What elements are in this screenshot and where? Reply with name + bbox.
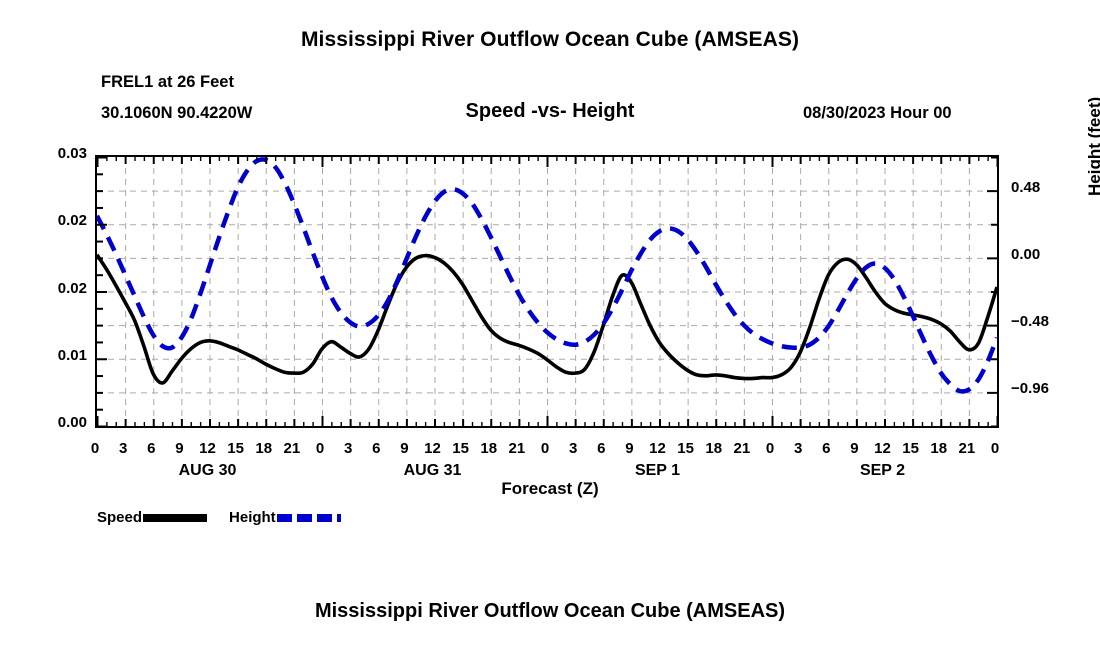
x-tick-15: 21 bbox=[502, 440, 532, 457]
bottom-title: Mississippi River Outflow Ocean Cube (AM… bbox=[0, 600, 1100, 623]
legend-swatch-height bbox=[277, 514, 341, 522]
legend-label-height: Height bbox=[229, 509, 276, 526]
x-tick-1: 3 bbox=[108, 440, 138, 457]
chart-page: Mississippi River Outflow Ocean Cube (AM… bbox=[0, 0, 1100, 650]
x-tick-9: 3 bbox=[333, 440, 363, 457]
station-name-depth: FREL1 at 26 Feet bbox=[101, 73, 234, 92]
x-tick-31: 21 bbox=[952, 440, 982, 457]
x-tick-3: 9 bbox=[164, 440, 194, 457]
legend-item-speed: Speed bbox=[97, 509, 207, 526]
day-label-1: AUG 31 bbox=[353, 462, 513, 480]
chart-legend: Speed Height bbox=[97, 509, 363, 526]
x-tick-32: 0 bbox=[980, 440, 1010, 457]
x-tick-17: 3 bbox=[558, 440, 588, 457]
plot-area bbox=[95, 155, 999, 428]
y-tick-left-2: 0.02 bbox=[27, 280, 87, 297]
x-tick-20: 12 bbox=[643, 440, 673, 457]
x-tick-8: 0 bbox=[305, 440, 335, 457]
x-tick-22: 18 bbox=[699, 440, 729, 457]
x-tick-12: 12 bbox=[418, 440, 448, 457]
day-label-3: SEP 2 bbox=[803, 462, 963, 480]
y-tick-right-3: 0.48 bbox=[1011, 179, 1081, 196]
y-tick-left-4: 0.03 bbox=[27, 145, 87, 162]
x-tick-24: 0 bbox=[755, 440, 785, 457]
x-tick-30: 18 bbox=[924, 440, 954, 457]
plot-inner bbox=[97, 157, 997, 426]
x-tick-11: 9 bbox=[389, 440, 419, 457]
y-tick-right-0: −0.96 bbox=[1011, 380, 1081, 397]
x-tick-21: 15 bbox=[671, 440, 701, 457]
chart-canvas bbox=[97, 157, 997, 426]
x-tick-26: 6 bbox=[811, 440, 841, 457]
x-tick-7: 21 bbox=[277, 440, 307, 457]
series-speed bbox=[97, 255, 997, 383]
x-tick-28: 12 bbox=[868, 440, 898, 457]
x-tick-14: 18 bbox=[474, 440, 504, 457]
x-tick-25: 3 bbox=[783, 440, 813, 457]
model-run-timestamp: 08/30/2023 Hour 00 bbox=[803, 104, 952, 123]
x-tick-6: 18 bbox=[249, 440, 279, 457]
y-tick-left-3: 0.02 bbox=[27, 212, 87, 229]
x-tick-23: 21 bbox=[727, 440, 757, 457]
y-axis-right-label: Height (feet) bbox=[1085, 0, 1100, 196]
x-tick-19: 9 bbox=[614, 440, 644, 457]
legend-label-speed: Speed bbox=[97, 509, 142, 526]
y-tick-left-0: 0.00 bbox=[27, 414, 87, 431]
x-tick-10: 6 bbox=[361, 440, 391, 457]
x-tick-18: 6 bbox=[586, 440, 616, 457]
legend-swatch-speed bbox=[143, 514, 207, 522]
x-tick-0: 0 bbox=[80, 440, 110, 457]
x-tick-27: 9 bbox=[839, 440, 869, 457]
x-axis-label: Forecast (Z) bbox=[0, 479, 1100, 499]
y-tick-right-2: 0.00 bbox=[1011, 246, 1081, 263]
x-tick-29: 15 bbox=[896, 440, 926, 457]
legend-item-height: Height bbox=[229, 509, 341, 526]
x-tick-2: 6 bbox=[136, 440, 166, 457]
x-tick-4: 12 bbox=[193, 440, 223, 457]
day-label-2: SEP 1 bbox=[578, 462, 738, 480]
x-tick-13: 15 bbox=[446, 440, 476, 457]
x-tick-16: 0 bbox=[530, 440, 560, 457]
x-tick-5: 15 bbox=[221, 440, 251, 457]
day-label-0: AUG 30 bbox=[128, 462, 288, 480]
y-tick-left-1: 0.01 bbox=[27, 347, 87, 364]
page-title: Mississippi River Outflow Ocean Cube (AM… bbox=[0, 28, 1100, 52]
y-tick-right-1: −0.48 bbox=[1011, 313, 1081, 330]
